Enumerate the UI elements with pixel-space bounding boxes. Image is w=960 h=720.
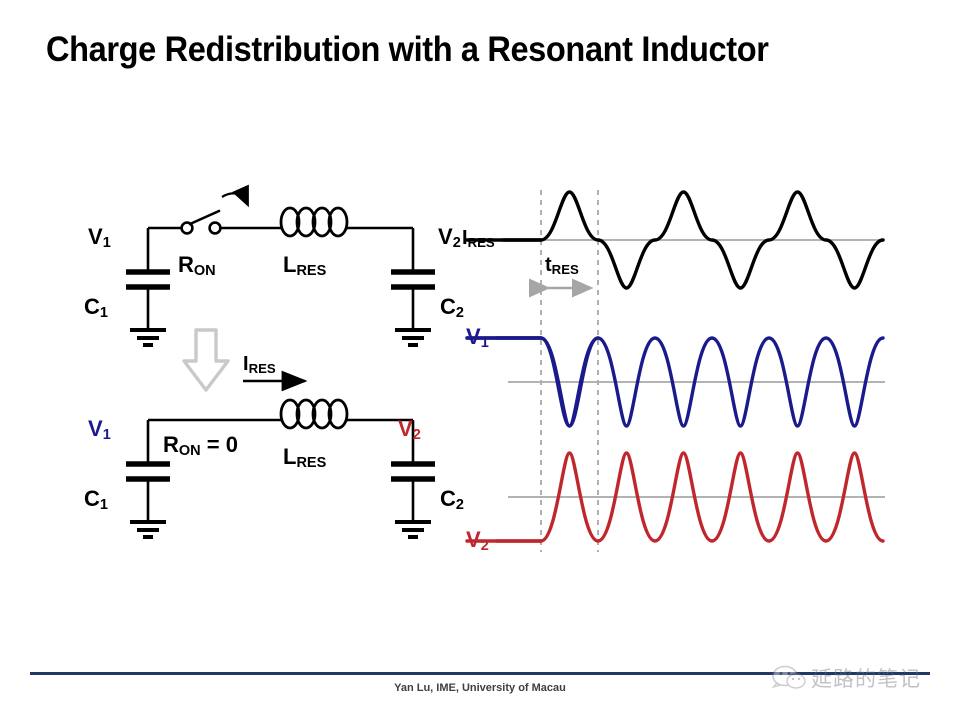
waveform-v1 — [467, 338, 598, 426]
page-title: Charge Redistribution with a Resonant In… — [46, 30, 864, 70]
label-c1-bottom: C1 — [84, 488, 108, 513]
label-ires-waveform: IRES — [462, 228, 495, 249]
label-v2-bottom: V2 — [398, 418, 421, 443]
label-lres-bottom: LRES — [283, 446, 326, 471]
label-c2-bottom: C2 — [440, 488, 464, 513]
watermark: 延路的笔记 — [772, 658, 952, 698]
diagram-layer — [0, 0, 960, 720]
label-v1-waveform: V1 — [466, 326, 489, 351]
wechat-logo-icon — [772, 665, 806, 691]
inductor-lres-bottom — [281, 400, 348, 428]
timing-markers — [541, 190, 598, 552]
label-lres-top: LRES — [283, 254, 326, 279]
label-tres: tRES — [545, 255, 579, 276]
switch-ron — [182, 193, 247, 233]
circuit-top — [126, 228, 435, 345]
waveform-label-leads — [497, 240, 541, 541]
transition-arrow-icon — [184, 330, 228, 390]
label-ron-top: RON — [178, 254, 216, 279]
label-v1-bottom: V1 — [88, 418, 111, 443]
slide-canvas: Charge Redistribution with a Resonant In… — [0, 0, 960, 720]
label-v2-top: V2 — [438, 226, 461, 251]
waveform-v1-body — [467, 338, 883, 426]
watermark-text: 延路的笔记 — [811, 663, 921, 693]
label-ires-current: IRES — [243, 354, 276, 375]
label-v1-top: V1 — [88, 226, 111, 251]
waveform-midlines — [508, 240, 885, 497]
label-ron-zero: RON = 0 — [163, 434, 238, 459]
inductor-lres-top — [281, 208, 348, 236]
waveform-v2 — [467, 453, 883, 541]
label-v2-waveform: V2 — [466, 529, 489, 554]
waveform-ires — [467, 192, 883, 288]
label-c2-top: C2 — [440, 296, 464, 321]
label-c1-top: C1 — [84, 296, 108, 321]
